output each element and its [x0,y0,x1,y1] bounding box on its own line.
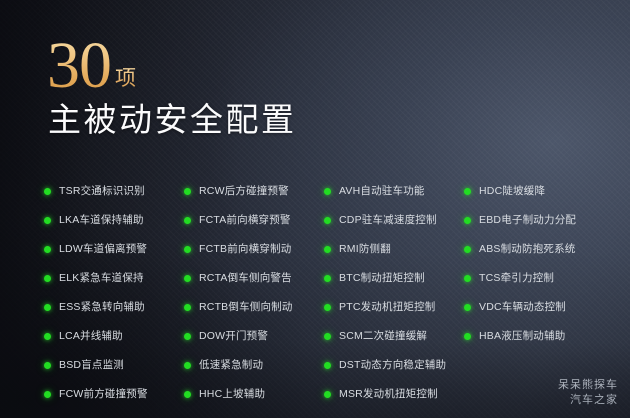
feature-item-label: RCW后方碰撞预警 [199,186,289,197]
feature-item: FCW前方碰撞预警 [44,380,184,409]
feature-item-label: PTC发动机扭矩控制 [339,302,436,313]
feature-item-label: FCTB前向横穿制动 [199,244,291,255]
feature-column-2: RCW后方碰撞预警FCTA前向横穿预警FCTB前向横穿制动RCTA倒车侧向警告R… [184,177,324,409]
bullet-dot-icon [184,246,191,253]
bullet-dot-icon [184,217,191,224]
feature-item: EBD电子制动力分配 [464,206,604,235]
feature-item: HHC上坡辅助 [184,380,324,409]
bullet-dot-icon [44,333,51,340]
feature-item-label: BSD盲点监测 [59,360,124,371]
feature-item-label: ESS紧急转向辅助 [59,302,145,313]
bullet-dot-icon [44,304,51,311]
feature-item-label: BTC制动扭矩控制 [339,273,425,284]
feature-item: SCM二次碰撞缓解 [324,322,464,351]
bullet-dot-icon [464,333,471,340]
feature-item-label: AVH自动驻车功能 [339,186,425,197]
feature-item: TCS牵引力控制 [464,264,604,293]
feature-item: LCA并线辅助 [44,322,184,351]
feature-item-label: RCTA倒车侧向警告 [199,273,292,284]
watermark-line-1: 呆呆熊探车 [558,378,618,394]
bullet-dot-icon [44,217,51,224]
feature-item-label: HBA液压制动辅助 [479,331,565,342]
feature-item-label: HDC陡坡缓降 [479,186,545,197]
feature-item: MSR发动机扭矩控制 [324,380,464,409]
feature-item-label: EBD电子制动力分配 [479,215,576,226]
feature-item: CDP驻车减速度控制 [324,206,464,235]
bullet-dot-icon [324,362,331,369]
feature-column-4: HDC陡坡缓降EBD电子制动力分配ABS制动防抱死系统TCS牵引力控制VDC车辆… [464,177,604,409]
feature-item-label: LDW车道偏离预警 [59,244,147,255]
bullet-dot-icon [324,188,331,195]
bullet-dot-icon [44,391,51,398]
page-title: 主被动安全配置 [48,103,297,138]
watermark-line-2: 汽车之家 [558,393,618,409]
feature-item-label: TCS牵引力控制 [479,273,554,284]
bullet-dot-icon [324,275,331,282]
feature-item: AVH自动驻车功能 [324,177,464,206]
feature-item-label: ELK紧急车道保持 [59,273,144,284]
feature-item: TSR交通标识识别 [44,177,184,206]
feature-item-label: RMI防侧翻 [339,244,391,255]
bullet-dot-icon [324,246,331,253]
feature-item-label: DOW开门预警 [199,331,268,342]
bullet-dot-icon [324,217,331,224]
feature-item: VDC车辆动态控制 [464,293,604,322]
feature-item: BSD盲点监测 [44,351,184,380]
bullet-dot-icon [184,188,191,195]
feature-item: 低速紧急制动 [184,351,324,380]
bullet-dot-icon [324,391,331,398]
feature-item: HBA液压制动辅助 [464,322,604,351]
feature-item: ABS制动防抱死系统 [464,235,604,264]
feature-item: DOW开门预警 [184,322,324,351]
bullet-dot-icon [44,246,51,253]
bullet-dot-icon [44,188,51,195]
feature-item-label: TSR交通标识识别 [59,186,145,197]
feature-item-label: FCTA前向横穿预警 [199,215,291,226]
feature-item: RCTA倒车侧向警告 [184,264,324,293]
feature-item-label: 低速紧急制动 [199,360,263,371]
feature-item: HDC陡坡缓降 [464,177,604,206]
bullet-dot-icon [324,333,331,340]
bullet-dot-icon [464,304,471,311]
feature-item: ESS紧急转向辅助 [44,293,184,322]
feature-item-label: ABS制动防抱死系统 [479,244,576,255]
headline-count: 30 项 [47,36,136,97]
bullet-dot-icon [464,217,471,224]
bullet-dot-icon [184,391,191,398]
feature-item: ELK紧急车道保持 [44,264,184,293]
bullet-dot-icon [44,275,51,282]
feature-item: FCTB前向横穿制动 [184,235,324,264]
feature-item: RCTB倒车侧向制动 [184,293,324,322]
bullet-dot-icon [324,304,331,311]
count-unit: 项 [115,68,136,89]
safety-features-poster: 30 项 主被动安全配置 TSR交通标识识别LKA车道保持辅助LDW车道偏离预警… [0,0,630,418]
bullet-dot-icon [184,304,191,311]
feature-item-label: RCTB倒车侧向制动 [199,302,293,313]
feature-item-label: HHC上坡辅助 [199,389,265,400]
bullet-dot-icon [184,275,191,282]
feature-item: DST动态方向稳定辅助 [324,351,464,380]
bullet-dot-icon [184,362,191,369]
feature-item: PTC发动机扭矩控制 [324,293,464,322]
watermark: 呆呆熊探车 汽车之家 [558,378,618,409]
feature-grid: TSR交通标识识别LKA车道保持辅助LDW车道偏离预警ELK紧急车道保持ESS紧… [44,177,604,409]
feature-item-label: MSR发动机扭矩控制 [339,389,438,400]
feature-item: RCW后方碰撞预警 [184,177,324,206]
bullet-dot-icon [44,362,51,369]
feature-item: RMI防侧翻 [324,235,464,264]
feature-item: LKA车道保持辅助 [44,206,184,235]
bullet-dot-icon [464,246,471,253]
feature-item-label: FCW前方碰撞预警 [59,389,148,400]
feature-item-label: SCM二次碰撞缓解 [339,331,427,342]
feature-item-label: LKA车道保持辅助 [59,215,144,226]
feature-item-label: LCA并线辅助 [59,331,123,342]
feature-item: LDW车道偏离预警 [44,235,184,264]
bullet-dot-icon [464,275,471,282]
feature-item-label: CDP驻车减速度控制 [339,215,437,226]
feature-item-label: DST动态方向稳定辅助 [339,360,446,371]
bullet-dot-icon [184,333,191,340]
feature-column-1: TSR交通标识识别LKA车道保持辅助LDW车道偏离预警ELK紧急车道保持ESS紧… [44,177,184,409]
feature-item: FCTA前向横穿预警 [184,206,324,235]
feature-column-3: AVH自动驻车功能CDP驻车减速度控制RMI防侧翻BTC制动扭矩控制PTC发动机… [324,177,464,409]
feature-item: BTC制动扭矩控制 [324,264,464,293]
count-number: 30 [47,36,111,97]
bullet-dot-icon [464,188,471,195]
feature-item-label: VDC车辆动态控制 [479,302,566,313]
